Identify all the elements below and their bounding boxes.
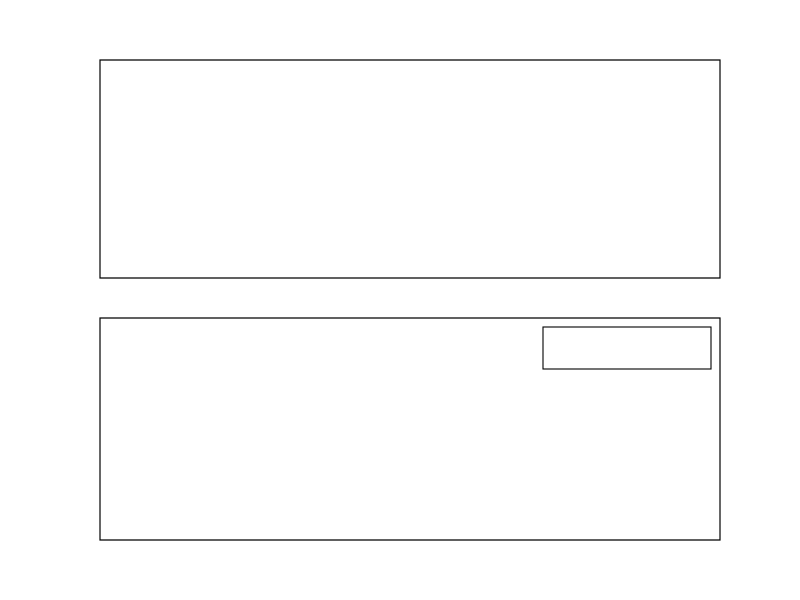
figure-canvas xyxy=(0,0,800,600)
legend-box xyxy=(543,327,711,369)
bottom-panel xyxy=(100,318,720,540)
matplotlib-figure xyxy=(0,0,800,600)
legend[interactable] xyxy=(543,327,711,369)
top-plot-background xyxy=(100,60,720,278)
top-panel xyxy=(100,60,720,278)
